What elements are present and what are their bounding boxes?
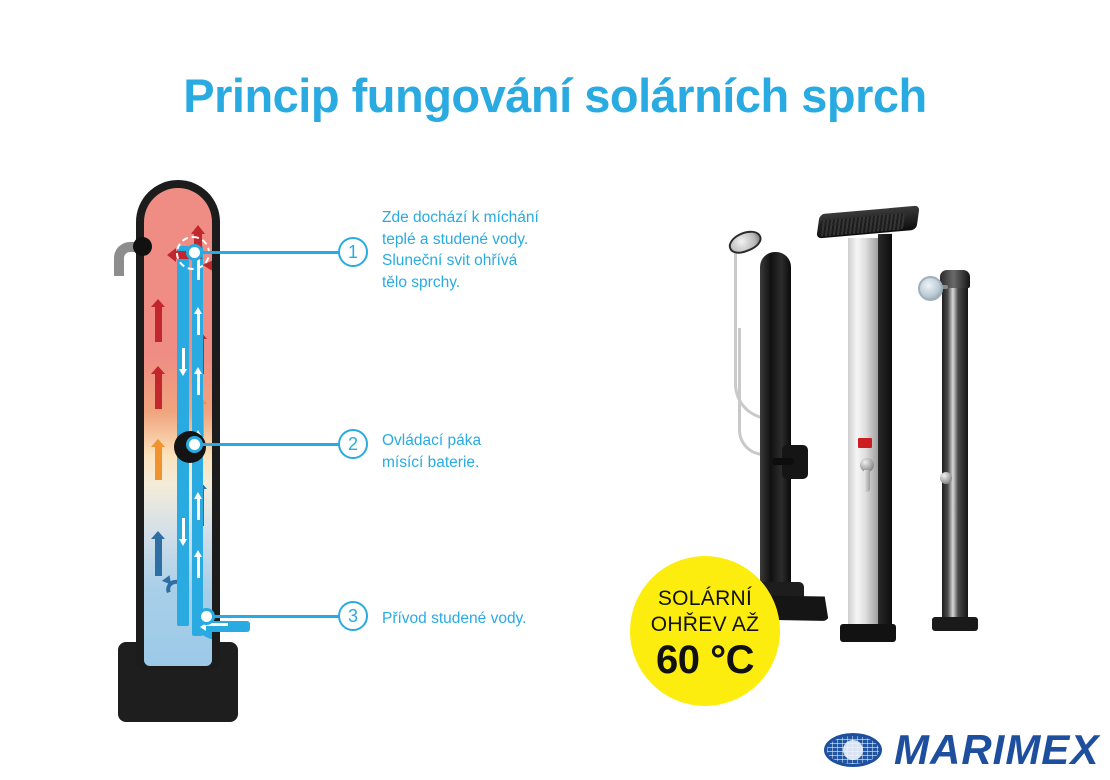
brand-name: MARIMEX	[894, 726, 1099, 774]
round-shower-head-icon	[918, 276, 943, 301]
pipe-flow-arrow-up	[197, 498, 200, 520]
warm-water-arrow	[155, 446, 162, 480]
callout-number-3[interactable]: 3	[338, 601, 368, 631]
shower-tube-interior	[144, 188, 212, 666]
hot-water-arrow	[155, 373, 162, 409]
callout-number-1[interactable]: 1	[338, 237, 368, 267]
status-badge: SOLÁRNÍ OHŘEV AŽ 60 °C	[630, 556, 780, 706]
pipe-flow-arrow-up	[197, 556, 200, 578]
shower-spout-joint	[133, 237, 152, 256]
page-title: Princip fungování solárních sprch	[0, 68, 1110, 123]
badge-line-2: OHŘEV AŽ	[630, 612, 780, 638]
panel-front-face	[848, 238, 878, 628]
badge-temperature: 60 °C	[630, 638, 780, 682]
shower-base-plate	[932, 617, 978, 631]
callout-text-2: Ovládací páka mísící baterie.	[382, 430, 481, 473]
callout-text-1: Zde dochází k míchání teplé a studené vo…	[382, 207, 539, 293]
pipe-flow-arrow-down	[182, 348, 185, 370]
callout-anchor-3[interactable]	[198, 608, 215, 625]
pipe-flow-arrow-down	[182, 518, 185, 540]
badge-line-1: SOLÁRNÍ	[630, 556, 780, 612]
callout-leader-3	[212, 615, 340, 618]
panel-base-plate	[840, 624, 896, 642]
solar-shower-cross-section	[118, 180, 258, 725]
pipe-flow-arrow-up	[197, 373, 200, 395]
callout-number-2[interactable]: 2	[338, 429, 368, 459]
globe-icon	[824, 733, 882, 767]
shower-control-knob	[940, 472, 952, 484]
callout-leader-2	[200, 443, 340, 446]
cold-water-arrow	[155, 538, 162, 576]
callout-anchor-1[interactable]	[186, 244, 203, 261]
product-label	[858, 438, 872, 448]
panel-side-face	[878, 234, 892, 626]
shower-column	[942, 282, 968, 622]
brand-logo: MARIMEX	[824, 726, 1099, 774]
infographic-page: Princip fungování solárních sprch	[0, 0, 1110, 780]
callout-anchor-2[interactable]	[186, 436, 203, 453]
panel-spout	[864, 470, 870, 492]
pipe-flow-arrow-up	[197, 313, 200, 335]
hot-water-arrow	[155, 306, 162, 342]
callout-leader-1	[200, 251, 340, 254]
shower-lever	[772, 458, 794, 465]
callout-text-3: Přívod studené vody.	[382, 608, 526, 630]
